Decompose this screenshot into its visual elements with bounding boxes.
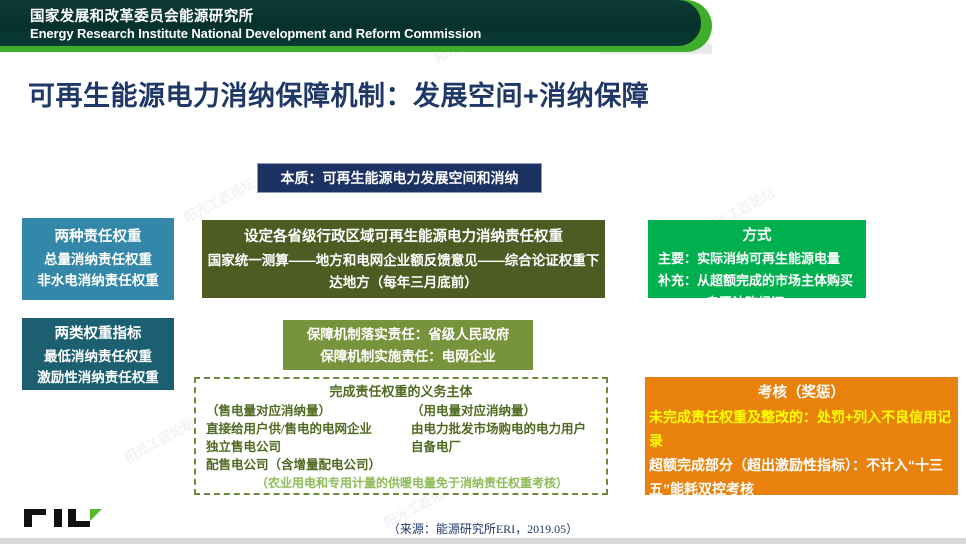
method-line-2: 补充：从超额完成的市场主体购买 xyxy=(648,270,866,292)
setting-line-1: 国家统一测算——地方和电网企业额反馈意见——综合论证权重下 xyxy=(202,250,605,272)
weights-heading: 两种责任权重 xyxy=(22,225,174,249)
method-line-1: 主要：实际消纳可再生能源电量 xyxy=(648,248,866,270)
setting-heading: 设定各省级行政区域可再生能源电力消纳责任权重 xyxy=(202,225,605,250)
obligation-box: 完成责任权重的义务主体 （售电量对应消纳量） （用电量对应消纳量） 直接给用户供… xyxy=(194,377,608,495)
bottom-bar xyxy=(0,538,966,544)
slide-canvas: 阳光工匠论坛 阳光工匠论坛 阳光工匠论坛 阳光工匠论坛 阳光工匠论坛 阳光工匠论… xyxy=(0,0,966,544)
indicators-box: 两类权重指标 最低消纳责任权重 激励性消纳责任权重 xyxy=(22,318,174,390)
responsibility-line-2: 保障机制实施责任：电网企业 xyxy=(283,346,533,368)
method-box: 方式 主要：实际消纳可再生能源电量 补充：从超额完成的市场主体购买 自愿认购绿证 xyxy=(648,220,866,298)
essence-box: 本质：可再生能源电力发展空间和消纳 xyxy=(257,163,542,193)
essence-text: 本质：可再生能源电力发展空间和消纳 xyxy=(281,168,519,188)
obligation-cell-left: （售电量对应消纳量） xyxy=(206,402,411,420)
responsibility-box: 保障机制落实责任：省级人民政府 保障机制实施责任：电网企业 xyxy=(283,320,533,370)
header-plate: 国家发展和改革委员会能源研究所 Energy Research Institut… xyxy=(0,0,701,46)
obligation-cell-right: 由电力批发市场购电的电力用户 xyxy=(411,420,606,438)
obligation-cell-right: （用电量对应消纳量） xyxy=(411,402,606,420)
watermark: 阳光工匠论坛 xyxy=(120,413,198,466)
watermark: 阳光工匠论坛 xyxy=(180,173,258,226)
method-heading: 方式 xyxy=(648,224,866,248)
page-title: 可再生能源电力消纳保障机制：发展空间+消纳保障 xyxy=(28,74,649,113)
assessment-line-2: 超额完成部分（超出激励性指标）：不计入“十三 xyxy=(645,453,958,477)
org-name-cn: 国家发展和改革委员会能源研究所 xyxy=(30,5,254,26)
slide-header: 国家发展和改革委员会能源研究所 Energy Research Institut… xyxy=(0,0,712,52)
obligation-row: 直接给用户供/售电的电网企业 由电力批发市场购电的电力用户 xyxy=(196,420,606,438)
indicators-line-1: 最低消纳责任权重 xyxy=(22,346,174,367)
org-name-en: Energy Research Institute National Devel… xyxy=(30,26,481,41)
indicators-line-2: 激励性消纳责任权重 xyxy=(22,367,174,388)
eri-logo-icon xyxy=(24,505,110,531)
weight-setting-box: 设定各省级行政区域可再生能源电力消纳责任权重 国家统一测算——地方和电网企业额反… xyxy=(202,220,605,298)
indicators-heading: 两类权重指标 xyxy=(22,323,174,346)
obligation-cell-left: 直接给用户供/售电的电网企业 xyxy=(206,420,411,438)
assessment-heading: 考核（奖惩） xyxy=(645,381,958,405)
source-note: （来源：能源研究所ERI，2019.05） xyxy=(0,520,966,537)
obligation-cell-left: 配售电公司（含增量配电公司） xyxy=(206,456,411,474)
assessment-box: 考核（奖惩） 未完成责任权重及整改的：处罚+列入不良信用记录 超额完成部分（超出… xyxy=(645,377,958,495)
obligation-heading: 完成责任权重的义务主体 xyxy=(196,382,606,402)
obligation-row: （售电量对应消纳量） （用电量对应消纳量） xyxy=(196,402,606,420)
obligation-cell-right xyxy=(411,456,606,474)
weights-box: 两种责任权重 总量消纳责任权重 非水电消纳责任权重 xyxy=(22,218,174,300)
method-line-3: 自愿认购绿证 xyxy=(648,292,866,314)
assessment-line-3: 五”能耗双控考核 xyxy=(645,477,958,501)
eri-logo xyxy=(24,505,110,531)
weights-line-1: 总量消纳责任权重 xyxy=(22,249,174,270)
responsibility-line-1: 保障机制落实责任：省级人民政府 xyxy=(283,324,533,346)
obligation-cell-left: 独立售电公司 xyxy=(206,438,411,456)
setting-line-2: 达地方（每年三月底前） xyxy=(202,272,605,294)
obligation-row: 独立售电公司 自备电厂 xyxy=(196,438,606,456)
weights-line-2: 非水电消纳责任权重 xyxy=(22,270,174,291)
obligation-cell-right: 自备电厂 xyxy=(411,438,606,456)
assessment-line-1: 未完成责任权重及整改的：处罚+列入不良信用记录 xyxy=(645,405,958,453)
obligation-row: 配售电公司（含增量配电公司） xyxy=(196,456,606,474)
obligation-note: （农业用电和专用计量的供暖电量免于消纳责任权重考核） xyxy=(196,474,606,492)
